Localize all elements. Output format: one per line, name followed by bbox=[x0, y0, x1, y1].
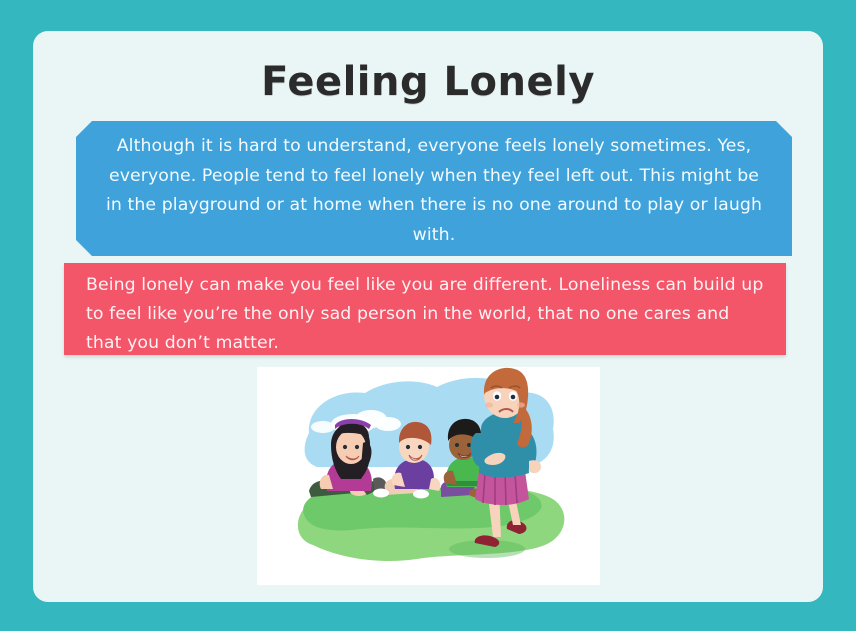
slide-frame: Feeling Lonely Although it is hard to un… bbox=[0, 0, 856, 631]
callout-box-blue: Although it is hard to understand, every… bbox=[76, 121, 792, 256]
callout-box-pink: Being lonely can make you feel like you … bbox=[64, 263, 786, 355]
page-title: Feeling Lonely bbox=[33, 59, 823, 105]
slide-content-panel: Feeling Lonely Although it is hard to un… bbox=[33, 31, 823, 602]
illustration-panel bbox=[257, 367, 600, 585]
lonely-children-illustration bbox=[257, 367, 600, 585]
